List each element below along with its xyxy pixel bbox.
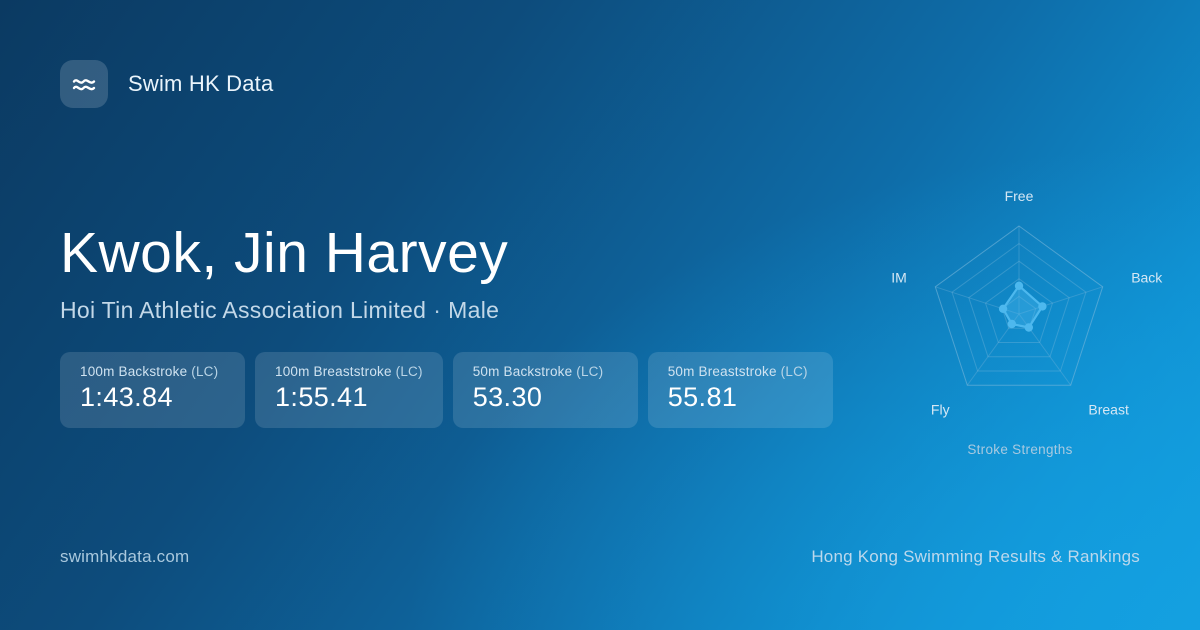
- radar-axis-label: Breast: [1088, 402, 1129, 418]
- stat-card-label: 100m Backstroke (LC): [80, 364, 225, 379]
- athlete-name: Kwok, Jin Harvey: [60, 224, 508, 284]
- radar-caption: Stroke Strengths: [860, 442, 1180, 457]
- stat-card-label: 100m Breaststroke (LC): [275, 364, 423, 379]
- stat-card-course: (LC): [396, 364, 423, 379]
- stat-card-value: 53.30: [473, 382, 618, 413]
- radar-data-point: [999, 305, 1007, 313]
- athlete-meta: Hoi Tin Athletic Association Limited·Mal…: [60, 297, 499, 324]
- stat-card-list: 100m Backstroke (LC) 1:43.84 100m Breast…: [60, 352, 833, 428]
- radar-axis-label: Free: [1005, 188, 1034, 204]
- athlete-club: Hoi Tin Athletic Association Limited: [60, 297, 426, 323]
- brand-name: Swim HK Data: [128, 71, 273, 97]
- stroke-strengths-radar-chart: FreeBackBreastFlyIM Stroke Strengths: [860, 170, 1180, 470]
- stat-card-course: (LC): [191, 364, 218, 379]
- stat-card-course: (LC): [781, 364, 808, 379]
- stat-card-event: 50m Breaststroke: [668, 364, 777, 379]
- stat-card-label: 50m Breaststroke (LC): [668, 364, 813, 379]
- brand-header[interactable]: Swim HK Data: [60, 60, 273, 108]
- radar-data-point: [1038, 302, 1046, 310]
- stat-card-event: 100m Backstroke: [80, 364, 187, 379]
- stat-card-event: 50m Backstroke: [473, 364, 573, 379]
- stat-card-value: 1:55.41: [275, 382, 423, 413]
- wave-icon: [60, 60, 108, 108]
- radar-axis-label: Back: [1131, 270, 1163, 286]
- footer-tagline: Hong Kong Swimming Results & Rankings: [811, 547, 1140, 567]
- radar-data-point: [1008, 320, 1016, 328]
- meta-separator: ·: [426, 297, 448, 323]
- stat-card-value: 1:43.84: [80, 382, 225, 413]
- radar-axis-label: Fly: [931, 402, 950, 418]
- stat-card-label: 50m Backstroke (LC): [473, 364, 618, 379]
- stat-card-event: 100m Breaststroke: [275, 364, 392, 379]
- radar-axis-label: IM: [891, 270, 907, 286]
- stat-card[interactable]: 100m Breaststroke (LC) 1:55.41: [255, 352, 443, 428]
- stat-card[interactable]: 100m Backstroke (LC) 1:43.84: [60, 352, 245, 428]
- radar-data-point: [1015, 282, 1023, 290]
- stat-card[interactable]: 50m Backstroke (LC) 53.30: [453, 352, 638, 428]
- radar-data-point: [1025, 323, 1033, 331]
- stat-card-value: 55.81: [668, 382, 813, 413]
- stat-card[interactable]: 50m Breaststroke (LC) 55.81: [648, 352, 833, 428]
- stat-card-course: (LC): [576, 364, 603, 379]
- footer-site[interactable]: swimhkdata.com: [60, 547, 189, 567]
- athlete-gender: Male: [448, 297, 499, 323]
